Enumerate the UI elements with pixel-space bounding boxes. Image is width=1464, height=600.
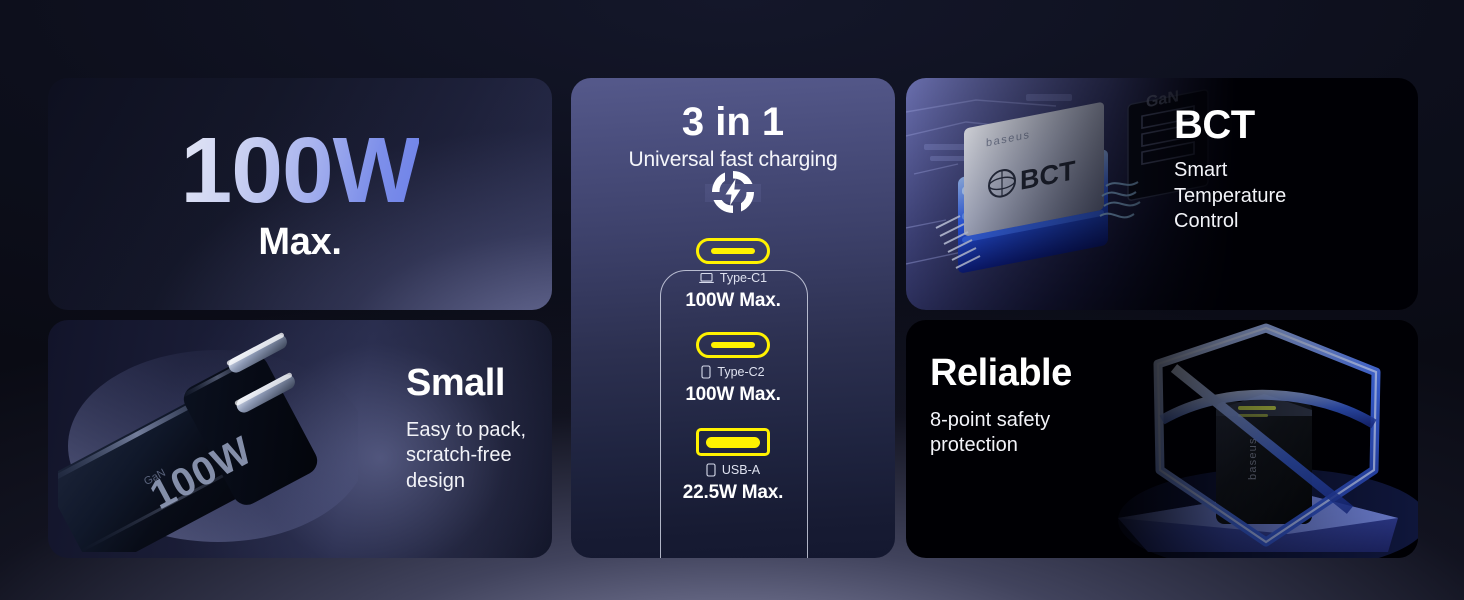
usb-c-port-graphic-2 [696, 332, 770, 358]
three-in-one-title: 3 in 1 [571, 100, 895, 144]
port-name-usb-a: USB-A [722, 463, 760, 477]
port-name-type-c1: Type-C1 [720, 271, 767, 285]
panel-reliable: baseus Reliable 8-point safety protectio… [906, 320, 1418, 558]
port-item-usb-a: USB-A 22.5W Max. [571, 428, 895, 504]
panel-wattage: 100W Max. [48, 78, 552, 310]
charger-product-image: 100W GaN [58, 328, 358, 552]
usb-c-port-graphic-1 [696, 238, 770, 264]
phone-icon [706, 463, 716, 477]
phone-icon [701, 365, 711, 379]
port-label-type-c2: Type-C2 [571, 365, 895, 379]
small-text-block: Small Easy to pack, scratch-free design [406, 364, 552, 495]
wattage-value: 100W [181, 124, 420, 217]
port-list: Type-C1 100W Max. Type-C2 100W Max. [571, 238, 895, 518]
small-title: Small [406, 364, 552, 404]
bct-title: BCT [1174, 104, 1414, 146]
bct-description: Smart Temperature Control [1174, 158, 1414, 235]
infographic-canvas: 100W Max. [0, 0, 1464, 600]
small-description: Easy to pack, scratch-free design [406, 418, 552, 495]
reliable-text-block: Reliable 8-point safety protection [930, 354, 1170, 459]
port-item-type-c2: Type-C2 100W Max. [571, 332, 895, 406]
fast-charge-bolt-icon [709, 168, 757, 216]
reliable-description: 8-point safety protection [930, 408, 1170, 459]
port-name-type-c2: Type-C2 [717, 365, 764, 379]
laptop-icon [699, 272, 714, 284]
port-label-type-c1: Type-C1 [571, 271, 895, 285]
usb-a-port-graphic [696, 428, 770, 456]
panel-small: 100W GaN Small Easy to pack, scratch-fre… [48, 320, 552, 558]
port-label-usb-a: USB-A [571, 463, 895, 477]
port-power-type-c1: 100W Max. [571, 290, 895, 312]
panel-bct: baseus BCT [906, 78, 1418, 310]
reliable-title: Reliable [930, 354, 1170, 394]
bct-text-block: BCT Smart Temperature Control [1174, 104, 1414, 235]
port-power-usb-a: 22.5W Max. [571, 482, 895, 504]
wattage-sublabel: Max. [258, 221, 341, 264]
port-item-type-c1: Type-C1 100W Max. [571, 238, 895, 312]
port-power-type-c2: 100W Max. [571, 384, 895, 406]
